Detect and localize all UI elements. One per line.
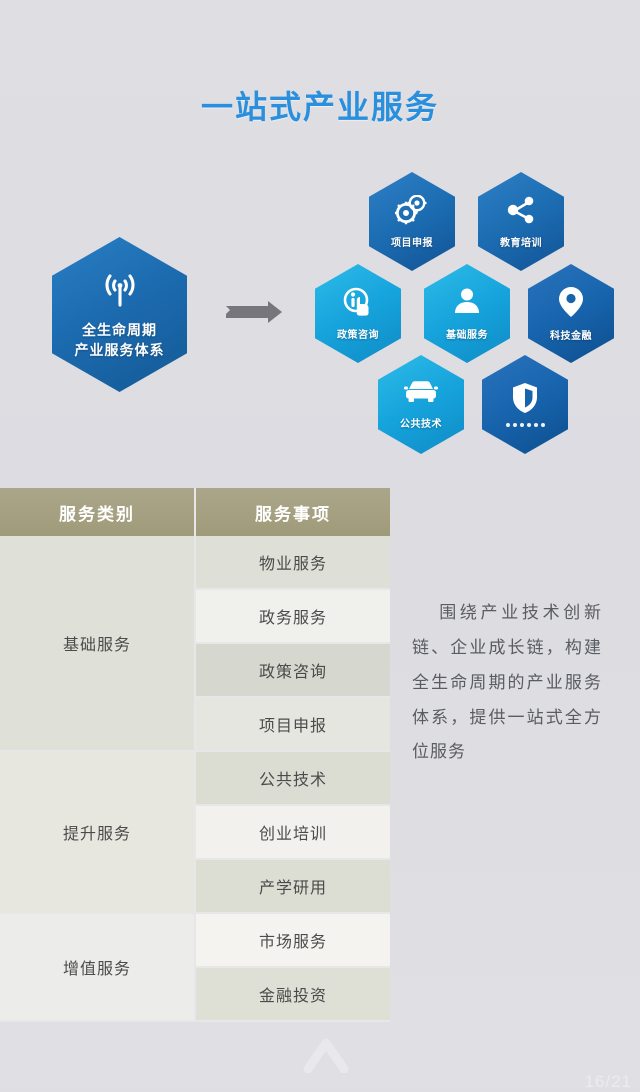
hex-node-education-training[interactable]: 教育培训 [478,172,564,271]
arrow-right-icon [224,300,284,324]
table-row: 增值服务 市场服务 [0,913,390,967]
column-header-category: 服务类别 [0,488,195,536]
center-label-line2: 产业服务体系 [75,340,165,360]
table-row: 基础服务 物业服务 [0,536,390,589]
column-header-item: 服务事项 [195,488,390,536]
hex-node-label: 政策咨询 [337,326,379,341]
hex-node-project-application[interactable]: 项目申报 [369,172,455,271]
gears-icon [395,195,429,230]
car-icon [404,380,438,411]
hex-node-label-dots [506,423,545,427]
item-cell: 创业培训 [195,805,390,859]
page-title: 一站式产业服务 [0,82,640,128]
watermark-chevron-icon [300,1035,352,1073]
item-cell: 政务服务 [195,589,390,643]
table-header-row: 服务类别 服务事项 [0,488,390,536]
center-label-line1: 全生命周期 [75,320,165,340]
hex-node-label: 科技金融 [550,327,592,342]
table-row: 提升服务 公共技术 [0,751,390,805]
hex-node-label: 教育培训 [500,234,542,249]
item-cell: 市场服务 [195,913,390,967]
category-cell-valueadd: 增值服务 [0,913,195,1021]
share-network-icon [505,195,537,230]
info-hand-icon [342,287,374,322]
category-cell-basic: 基础服务 [0,536,195,751]
hex-node-center-label: 全生命周期 产业服务体系 [75,320,165,361]
hex-node-label: 项目申报 [391,234,433,249]
hex-node-center[interactable]: 全生命周期 产业服务体系 [52,237,187,392]
person-icon [452,287,482,322]
hex-node-more[interactable] [482,355,568,454]
shield-icon [511,382,539,419]
item-cell: 公共技术 [195,751,390,805]
hex-node-label: 公共技术 [400,415,442,430]
side-description: 围绕产业技术创新链、企业成长链，构建全生命周期的产业服务体系，提供一站式全方位服… [412,596,602,770]
hex-node-policy-consulting[interactable]: 政策咨询 [315,264,401,363]
item-cell: 金融投资 [195,967,390,1021]
broadcast-signal-icon [97,269,143,314]
service-table: 服务类别 服务事项 基础服务 物业服务 政务服务 政策咨询 项目申报 提升服务 … [0,488,390,1022]
hex-node-label: 基础服务 [446,326,488,341]
hexagon-diagram: 全生命周期 产业服务体系 [0,160,640,470]
item-cell: 政策咨询 [195,643,390,697]
hex-node-tech-finance[interactable]: 科技金融 [528,264,614,363]
item-cell: 物业服务 [195,536,390,589]
page-number: 16/21 [584,1072,632,1092]
hex-node-basic-services[interactable]: 基础服务 [424,264,510,363]
map-pin-icon [558,286,584,323]
hex-node-public-technology[interactable]: 公共技术 [378,355,464,454]
category-cell-upgrade: 提升服务 [0,751,195,913]
item-cell: 项目申报 [195,697,390,751]
item-cell: 产学研用 [195,859,390,913]
